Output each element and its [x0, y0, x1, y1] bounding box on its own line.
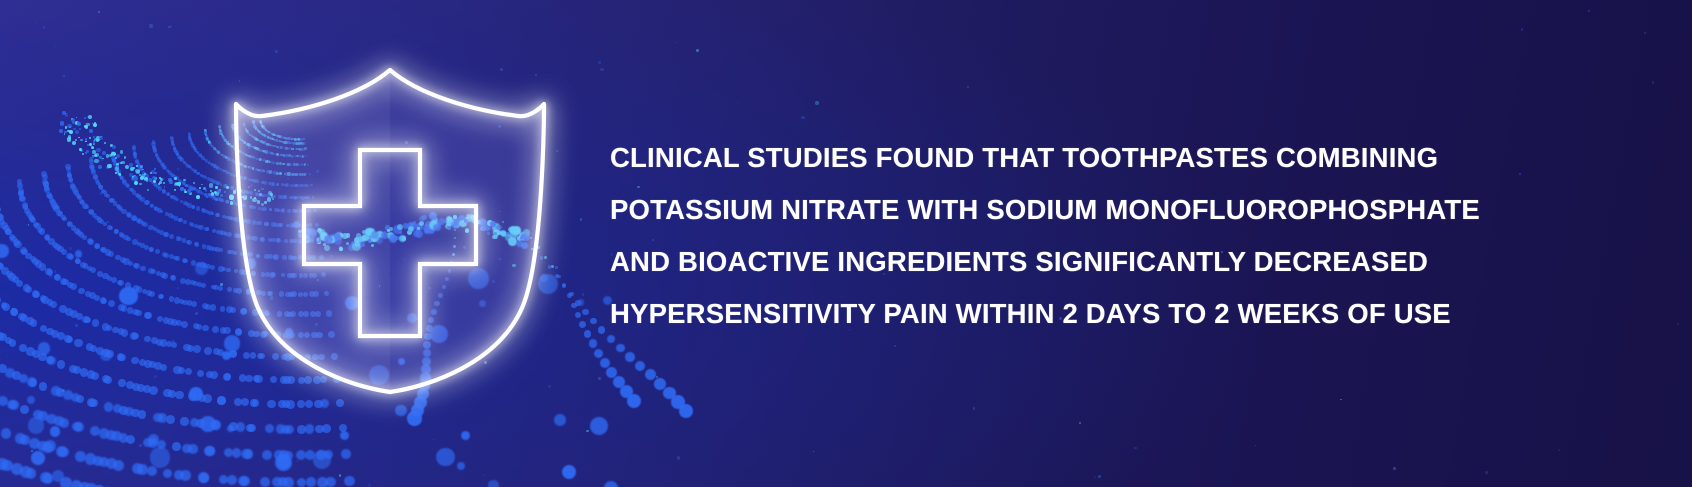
particle-dot	[109, 164, 113, 168]
particle-dot	[133, 167, 135, 169]
particle-dot	[281, 425, 290, 434]
particle-dot	[154, 362, 161, 369]
particle-dot	[138, 195, 142, 199]
particle-dot	[137, 242, 141, 246]
particle-dot	[200, 416, 215, 431]
particle-dot	[1677, 323, 1679, 325]
particle-dot	[121, 329, 128, 336]
particle-dot	[70, 310, 78, 318]
particle-dot	[41, 171, 47, 177]
particle-dot	[169, 254, 174, 259]
particle-dot	[152, 140, 155, 143]
particle-dot	[123, 258, 129, 264]
particle-dot	[154, 177, 157, 180]
particle-dot	[109, 154, 112, 157]
particle-dot	[153, 413, 162, 422]
particle-dot	[1393, 467, 1396, 470]
particle-dot	[5, 228, 12, 235]
particle-dot	[82, 235, 87, 240]
particle-dot	[813, 451, 814, 452]
particle-dot	[204, 129, 206, 131]
particle-dot	[178, 156, 182, 160]
particle-dot	[53, 205, 58, 210]
particle-dot	[34, 381, 36, 383]
particle-dot	[9, 400, 19, 410]
particle-dot	[83, 263, 88, 268]
particle-dot	[169, 180, 173, 184]
particle-dot	[46, 192, 52, 198]
particle-dot	[190, 187, 194, 191]
particle-dot	[144, 245, 149, 250]
particle-dot	[196, 324, 202, 330]
particle-dot	[30, 217, 36, 223]
particle-dot	[193, 187, 196, 190]
particle-dot	[663, 387, 676, 400]
particle-dot	[149, 361, 156, 368]
particle-dot	[0, 332, 4, 340]
particle-dot	[38, 411, 48, 421]
particle-dot	[23, 204, 29, 210]
particle-dot	[275, 454, 292, 471]
particle-dot	[604, 481, 618, 487]
particle-dot	[214, 197, 217, 200]
particle-dot	[157, 158, 161, 162]
particle-dot	[132, 190, 136, 194]
particle-dot	[132, 309, 138, 315]
particle-dot	[159, 160, 162, 163]
particle-dot	[158, 186, 162, 190]
particle-dot	[173, 147, 176, 150]
particle-dot	[67, 282, 73, 288]
particle-dot	[204, 446, 214, 456]
particle-dot	[195, 262, 208, 275]
particle-dot	[139, 174, 141, 176]
particle-dot	[184, 191, 186, 193]
particle-dot	[21, 249, 27, 255]
particle-dot	[72, 187, 78, 193]
particle-dot	[20, 405, 29, 414]
particle-dot	[144, 177, 148, 181]
particle-dot	[488, 480, 498, 487]
particle-dot	[306, 477, 316, 487]
particle-dot	[160, 364, 167, 371]
particle-dot	[99, 457, 109, 467]
particle-dot	[143, 172, 146, 175]
particle-dot	[562, 283, 566, 287]
particle-dot	[586, 430, 588, 432]
particle-dot	[152, 145, 155, 148]
particle-dot	[146, 290, 152, 296]
particle-dot	[70, 183, 75, 188]
particle-dot	[188, 136, 192, 140]
particle-dot	[184, 184, 187, 187]
particle-dot	[78, 137, 80, 139]
particle-dot	[157, 440, 166, 449]
particle-dot	[126, 212, 130, 216]
particle-dot	[204, 131, 207, 134]
particle-dot	[140, 176, 144, 180]
particle-dot	[104, 376, 112, 384]
particle-dot	[180, 417, 188, 425]
particle-dot	[0, 219, 5, 225]
particle-dot	[44, 186, 50, 192]
particle-dot	[149, 386, 158, 395]
particle-dot	[236, 422, 245, 431]
particle-dot	[127, 213, 132, 218]
particle-dot	[64, 133, 65, 134]
particle-dot	[194, 170, 197, 173]
particle-dot	[113, 201, 117, 205]
particle-dot	[159, 181, 162, 184]
particle-dot	[185, 185, 187, 187]
particle-dot	[94, 295, 100, 301]
particle-dot	[325, 477, 336, 487]
particle-dot	[132, 463, 142, 473]
particle-dot	[199, 225, 204, 230]
particle-dot	[188, 392, 197, 401]
particle-dot	[284, 451, 293, 460]
particle-dot	[67, 171, 72, 176]
particle-dot	[193, 182, 195, 184]
particle-dot	[183, 179, 186, 182]
particle-dot	[163, 232, 168, 237]
particle-dot	[157, 157, 160, 160]
particle-dot	[74, 339, 82, 347]
particle-dot	[141, 221, 145, 225]
particle-dot	[134, 156, 137, 159]
particle-dot	[133, 151, 137, 155]
particle-dot	[208, 140, 210, 142]
particle-dot	[210, 144, 212, 146]
particle-dot	[178, 367, 185, 374]
particle-dot	[165, 212, 169, 216]
particle-dot	[144, 336, 150, 342]
particle-dot	[676, 42, 678, 44]
particle-dot	[120, 257, 126, 263]
particle-dot	[567, 293, 572, 298]
particle-dot	[65, 308, 73, 316]
particle-dot	[95, 153, 99, 157]
particle-dot	[170, 195, 173, 198]
particle-dot	[210, 163, 213, 166]
particle-dot	[183, 220, 187, 224]
particle-dot	[206, 138, 209, 141]
particle-dot	[160, 272, 166, 278]
particle-dot	[42, 179, 48, 185]
particle-dot	[202, 325, 209, 332]
particle-dot	[190, 192, 193, 195]
particle-dot	[973, 407, 976, 410]
particle-dot	[54, 274, 61, 281]
particle-dot	[193, 169, 197, 173]
particle-dot	[113, 404, 122, 413]
particle-dot	[175, 391, 184, 400]
particle-dot	[95, 216, 99, 220]
particle-dot	[52, 242, 58, 248]
particle-dot	[211, 163, 214, 166]
particle-dot	[580, 218, 583, 221]
particle-dot	[40, 325, 47, 332]
particle-dot	[297, 460, 299, 462]
particle-dot	[163, 389, 172, 398]
particle-dot	[31, 451, 45, 465]
particle-dot	[170, 173, 174, 177]
particle-dot	[211, 212, 214, 215]
particle-dot	[26, 224, 27, 225]
particle-dot	[178, 218, 182, 222]
particle-dot	[168, 26, 170, 28]
particle-dot	[197, 282, 202, 287]
particle-dot	[155, 249, 160, 254]
particle-dot	[229, 422, 238, 431]
particle-dot	[60, 477, 71, 487]
particle-dot	[151, 142, 155, 146]
particle-dot	[100, 192, 103, 195]
particle-dot	[153, 182, 157, 186]
particle-dot	[175, 176, 179, 180]
particle-dot	[34, 223, 41, 230]
particle-dot	[0, 458, 8, 470]
particle-dot	[116, 204, 120, 208]
particle-dot	[85, 483, 96, 487]
particle-dot	[99, 137, 100, 138]
particle-dot	[210, 265, 215, 270]
particle-dot	[216, 191, 219, 194]
particle-dot	[106, 458, 117, 469]
particle-dot	[205, 446, 215, 456]
particle-dot	[6, 271, 13, 278]
particle-dot	[232, 448, 242, 458]
particle-dot	[145, 174, 150, 179]
particle-dot	[26, 317, 34, 325]
particle-dot	[135, 159, 139, 163]
particle-dot	[1, 428, 11, 438]
particle-dot	[99, 428, 109, 438]
particle-dot	[203, 394, 212, 403]
particle-dot	[85, 138, 88, 141]
particle-dot	[1340, 399, 1342, 401]
particle-dot	[166, 192, 170, 196]
particle-dot	[217, 151, 220, 154]
particle-dot	[75, 259, 81, 265]
particle-dot	[178, 218, 182, 222]
particle-dot	[93, 123, 97, 127]
particle-dot	[133, 175, 135, 177]
particle-dot	[106, 325, 113, 332]
particle-dot	[75, 193, 80, 198]
particle-dot	[209, 178, 213, 182]
particle-dot	[17, 403, 20, 406]
particle-dot	[116, 169, 121, 174]
particle-dot	[189, 186, 193, 190]
particle-dot	[136, 194, 141, 199]
particle-dot	[0, 214, 4, 221]
particle-dot	[206, 137, 209, 140]
particle-dot	[620, 385, 633, 398]
particle-dot	[616, 344, 625, 353]
particle-dot	[151, 269, 156, 274]
particle-dot	[55, 46, 56, 47]
particle-dot	[18, 190, 25, 197]
particle-dot	[118, 354, 126, 362]
particle-dot	[138, 166, 142, 170]
particle-dot	[211, 145, 214, 148]
particle-dot	[189, 222, 193, 226]
particle-dot	[180, 158, 183, 161]
particle-dot	[134, 181, 138, 185]
particle-dot	[461, 431, 470, 440]
particle-dot	[85, 453, 96, 464]
particle-dot	[315, 425, 324, 434]
particle-dot	[194, 224, 198, 228]
particle-dot	[202, 175, 205, 178]
particle-dot	[215, 186, 217, 188]
particle-dot	[42, 442, 53, 453]
particle-dot	[111, 151, 115, 155]
particle-dot	[213, 180, 217, 184]
particle-dot	[204, 193, 208, 197]
particle-dot	[206, 245, 210, 249]
particle-dot	[575, 312, 581, 318]
particle-dot	[1521, 28, 1523, 30]
particle-dot	[151, 180, 155, 184]
particle-dot	[47, 356, 56, 365]
particle-dot	[73, 190, 79, 196]
particle-dot	[78, 288, 85, 295]
particle-dot	[72, 121, 75, 124]
particle-dot	[102, 323, 110, 331]
particle-dot	[51, 202, 57, 208]
particle-dot	[180, 470, 191, 481]
particle-dot	[671, 395, 685, 409]
particle-dot	[69, 247, 71, 249]
particle-dot	[214, 191, 217, 194]
particle-dot	[72, 141, 76, 145]
particle-dot	[122, 180, 127, 185]
particle-dot	[199, 473, 209, 483]
particle-dot	[118, 304, 125, 311]
particle-dot	[562, 465, 577, 480]
particle-dot	[159, 294, 164, 299]
particle-dot	[94, 138, 97, 141]
particle-dot	[28, 214, 34, 220]
particle-dot	[158, 294, 163, 299]
particle-dot	[176, 153, 179, 156]
particle-dot	[85, 141, 87, 143]
particle-dot	[129, 163, 133, 167]
particle-dot	[159, 160, 162, 163]
particle-dot	[166, 341, 173, 348]
particle-dot	[11, 308, 19, 316]
particle-dot	[339, 424, 348, 433]
particle-dot	[2, 303, 10, 311]
particle-dot	[185, 202, 189, 206]
particle-dot	[206, 196, 208, 198]
particle-dot	[18, 188, 24, 194]
particle-dot	[187, 300, 193, 306]
particle-dot	[144, 200, 149, 205]
particle-dot	[110, 144, 113, 147]
particle-dot	[203, 158, 205, 160]
particle-dot	[153, 146, 156, 149]
particle-dot	[205, 133, 207, 135]
particle-dot	[200, 174, 203, 177]
particle-dot	[80, 262, 86, 268]
particle-dot	[140, 165, 144, 169]
particle-dot	[97, 217, 103, 223]
particle-dot	[584, 330, 591, 337]
particle-dot	[483, 474, 485, 476]
particle-dot	[14, 241, 21, 248]
particle-dot	[109, 198, 113, 202]
particle-dot	[316, 450, 326, 460]
particle-dot	[91, 169, 96, 174]
particle-dot	[0, 364, 7, 373]
particle-dot	[178, 179, 181, 182]
particle-dot	[79, 482, 90, 487]
particle-dot	[62, 279, 68, 285]
particle-dot	[195, 242, 199, 246]
particle-dot	[154, 184, 158, 188]
particle-dot	[183, 161, 186, 164]
particle-dot	[100, 349, 113, 362]
particle-dot	[148, 434, 159, 445]
particle-dot	[29, 438, 40, 449]
particle-dot	[161, 163, 165, 167]
particle-dot	[172, 442, 181, 451]
particle-dot	[148, 268, 154, 274]
particle-dot	[112, 158, 115, 161]
particle-dot	[134, 263, 140, 269]
particle-dot	[198, 472, 209, 483]
particle-dot	[65, 126, 67, 128]
particle-dot	[111, 153, 115, 157]
particle-dot	[183, 344, 190, 351]
particle-dot	[167, 170, 170, 173]
particle-dot	[71, 480, 82, 487]
particle-dot	[216, 150, 219, 153]
particle-dot	[173, 256, 177, 260]
particle-dot	[240, 476, 250, 486]
particle-dot	[260, 477, 270, 487]
particle-dot	[194, 188, 197, 191]
particle-dot	[168, 213, 173, 218]
particle-dot	[0, 213, 3, 220]
particle-dot	[205, 134, 207, 136]
particle-dot	[115, 157, 117, 159]
particle-dot	[205, 304, 211, 310]
particle-dot	[88, 115, 92, 119]
particle-dot	[150, 172, 152, 174]
particle-dot	[47, 299, 53, 305]
particle-dot	[129, 188, 133, 192]
particle-dot	[90, 345, 97, 352]
particle-dot	[96, 136, 100, 140]
particle-dot	[54, 274, 60, 280]
particle-dot	[191, 143, 194, 146]
particle-dot	[217, 197, 221, 201]
particle-dot	[589, 339, 597, 347]
particle-dot	[74, 422, 84, 432]
particle-dot	[177, 155, 181, 159]
particle-dot	[203, 263, 208, 268]
particle-dot	[144, 173, 146, 175]
particle-dot	[75, 451, 86, 462]
particle-dot	[194, 148, 198, 152]
particle-dot	[105, 249, 111, 255]
particle-dot	[147, 189, 149, 191]
particle-dot	[188, 444, 197, 453]
